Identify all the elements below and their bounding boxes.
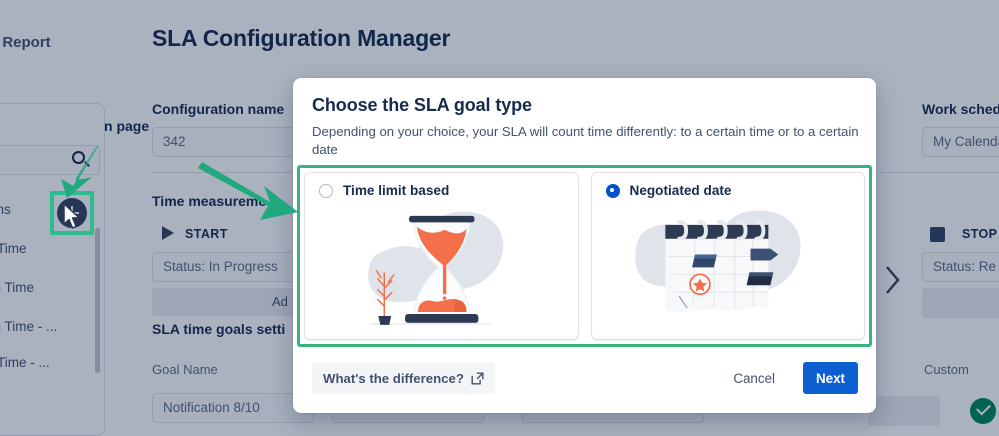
cards-highlight-ring <box>297 165 872 347</box>
external-link-icon <box>471 372 484 385</box>
dialog-description: Depending on your choice, your SLA will … <box>312 123 860 159</box>
dialog-footer: What's the difference? Cancel Next <box>293 351 876 413</box>
whats-the-difference-button[interactable]: What's the difference? <box>312 362 495 394</box>
next-button[interactable]: Next <box>803 362 858 394</box>
whats-the-difference-label: What's the difference? <box>323 371 464 386</box>
dialog-title: Choose the SLA goal type <box>312 95 532 116</box>
screenshot-root: l Report SLA Configuration Manager n pag… <box>0 0 999 436</box>
cancel-button[interactable]: Cancel <box>722 362 786 394</box>
sla-goal-type-dialog: Choose the SLA goal type Depending on yo… <box>293 78 876 413</box>
